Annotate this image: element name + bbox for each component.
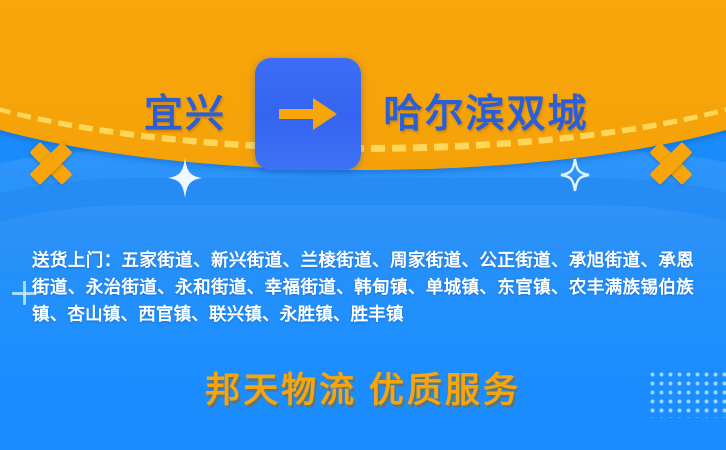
delivery-coverage-text: 送货上门：五家街道、新兴街道、兰棱街道、周家街道、公正街道、承旭街道、承恩街道、… — [32, 247, 694, 328]
destination-city-label: 哈尔滨双城 — [361, 95, 611, 134]
logistics-route-banner: 宜兴 哈尔滨双城 送货上门：五家街道、新兴街道、兰棱街道、周家街道、公正街道、承… — [0, 0, 726, 450]
right-arrow-icon — [277, 94, 339, 134]
route-header: 宜兴 哈尔滨双城 — [0, 58, 726, 170]
brand-slogan: 邦天物流 优质服务 — [0, 362, 726, 413]
route-arrow-badge — [255, 58, 361, 170]
origin-city-label: 宜兴 — [115, 95, 255, 134]
